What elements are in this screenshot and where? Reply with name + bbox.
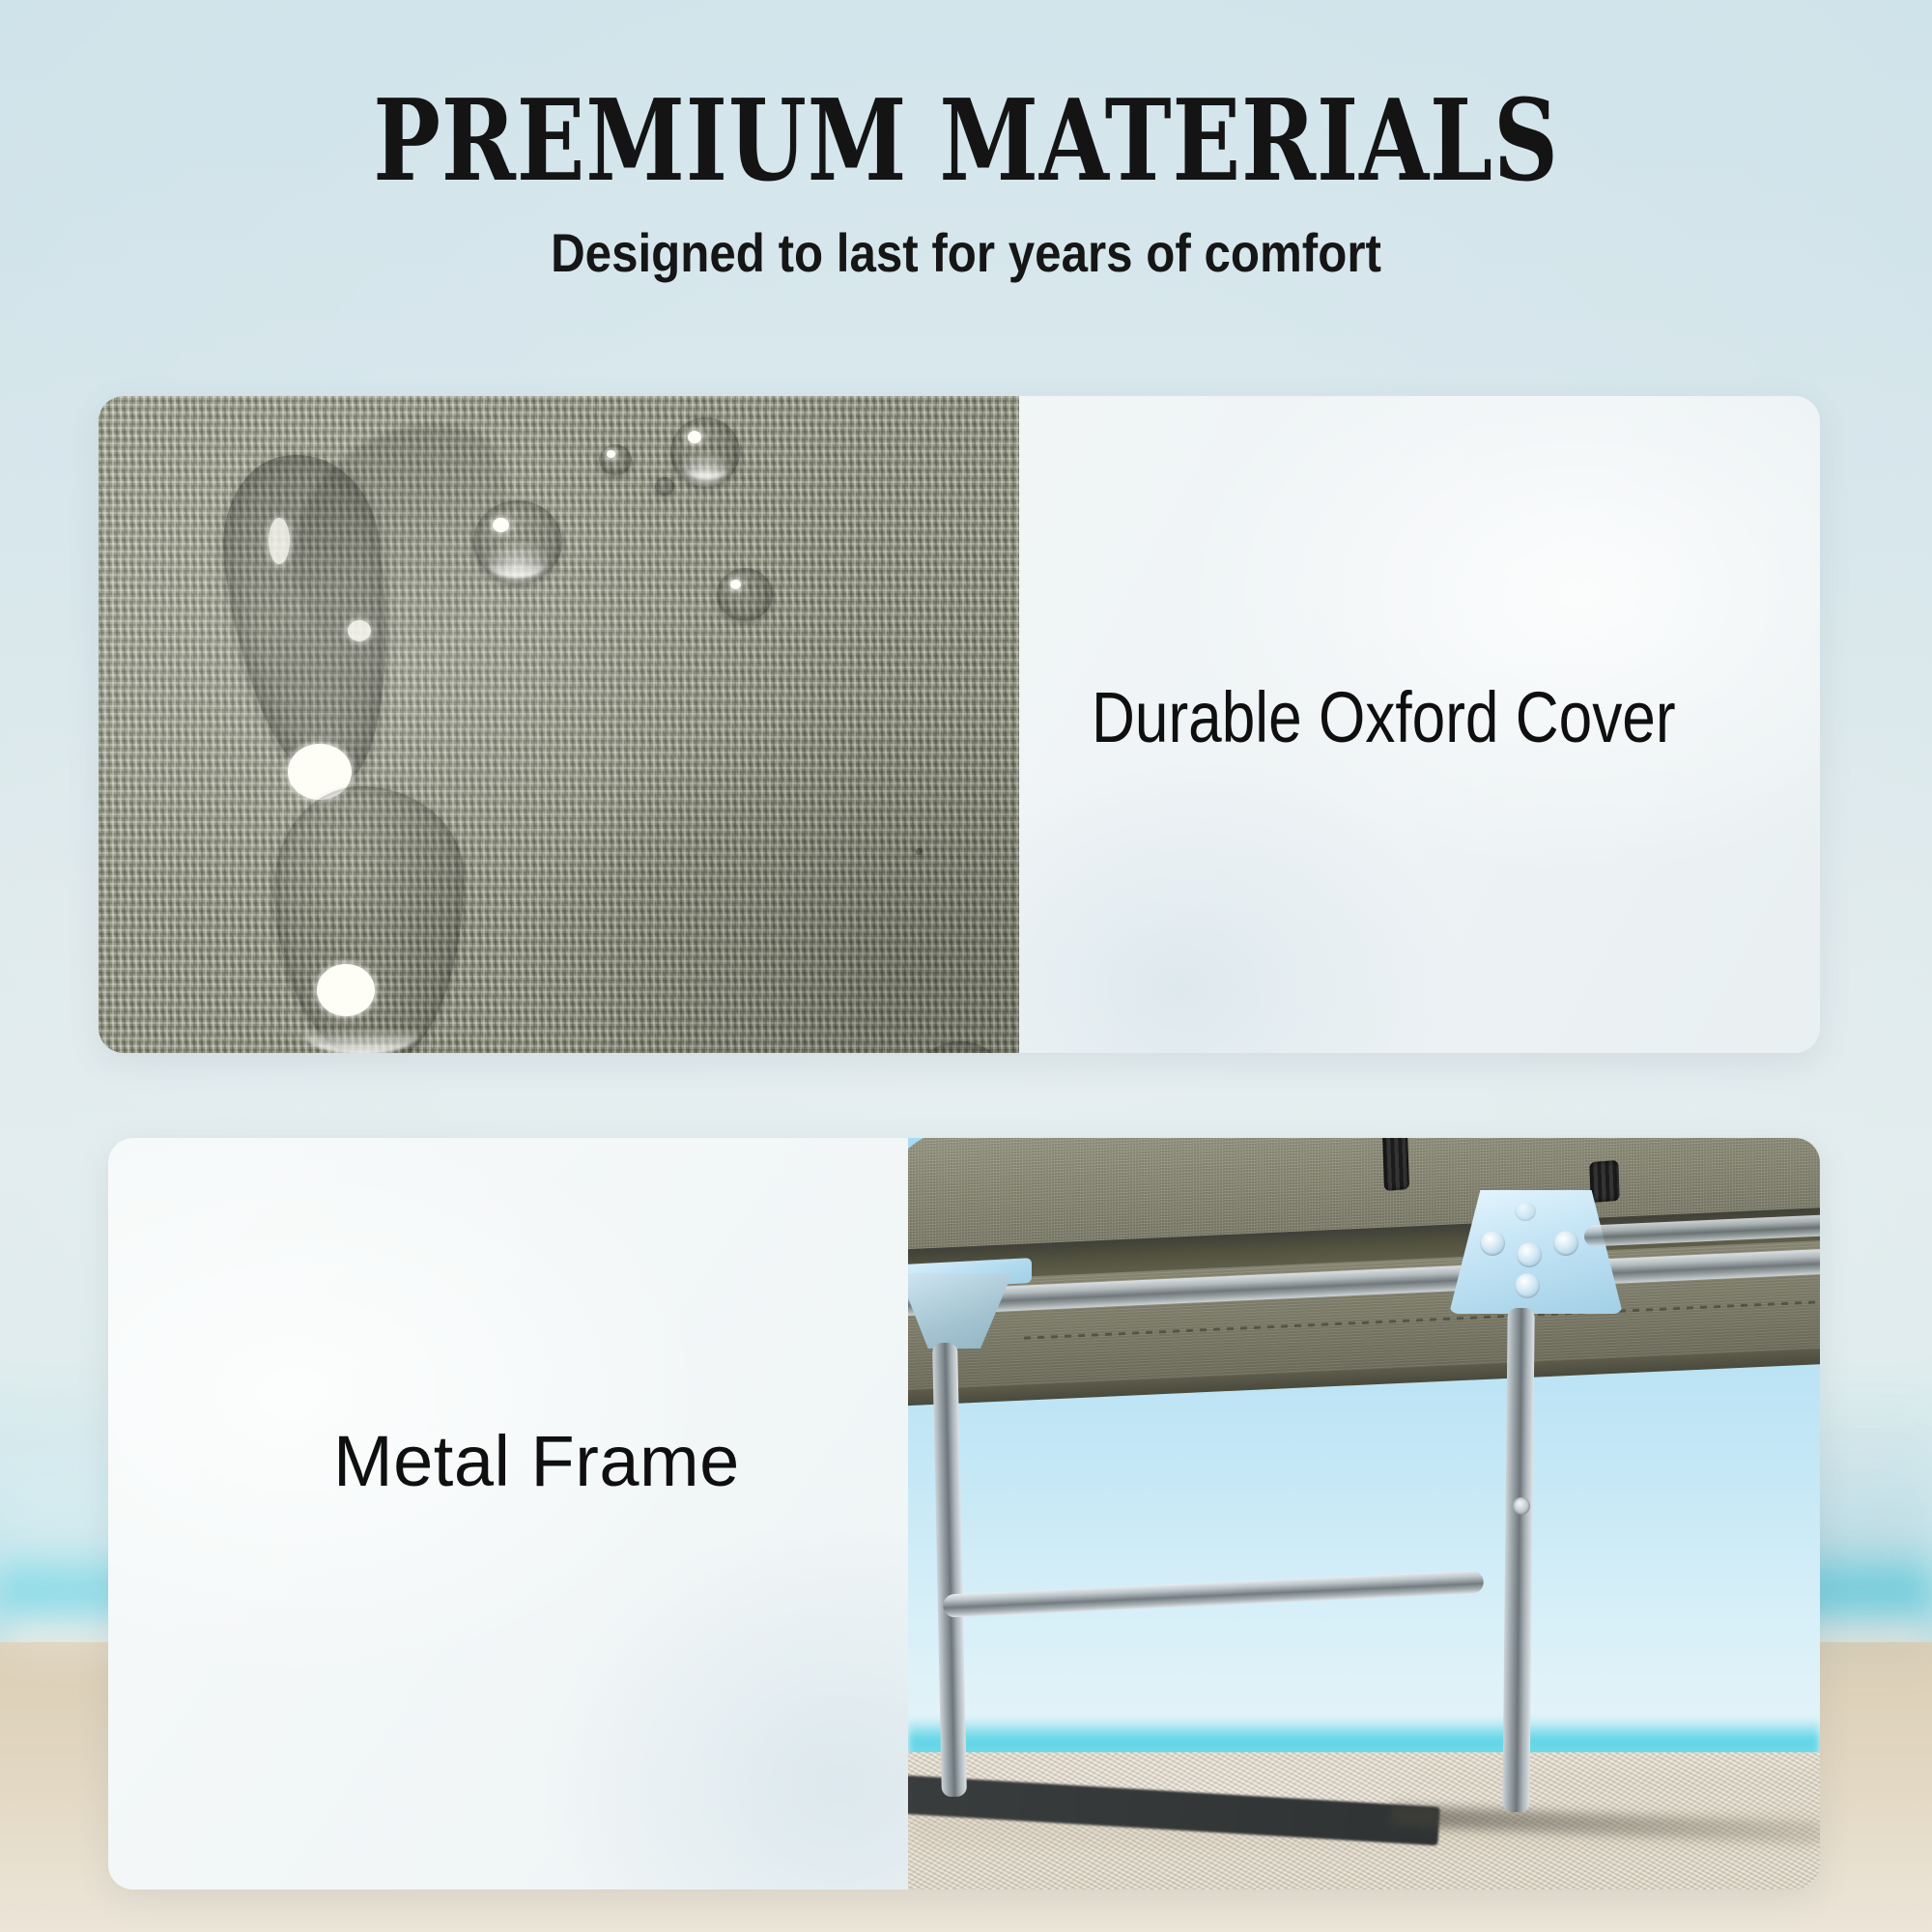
page-title: PREMIUM MATERIALS bbox=[193, 85, 1739, 197]
water-droplet bbox=[916, 848, 923, 855]
droplet-highlight bbox=[493, 518, 509, 532]
bracket-rivet bbox=[1515, 1202, 1536, 1221]
bracket-rivet bbox=[1480, 1231, 1505, 1256]
water-droplet bbox=[717, 568, 773, 621]
bracket-rivet bbox=[1515, 1273, 1540, 1298]
rail-rubber-sleeve bbox=[1589, 1160, 1619, 1203]
cot-leg-right bbox=[1502, 1308, 1534, 1812]
droplet-crescent bbox=[303, 1010, 419, 1053]
droplet-crescent bbox=[686, 460, 728, 479]
card-sheen bbox=[108, 1138, 958, 1889]
metal-frame-photo bbox=[908, 1138, 1820, 1889]
droplet-highlight bbox=[269, 518, 290, 564]
water-droplet bbox=[599, 444, 632, 475]
page-subtitle: Designed to last for years of comfort bbox=[116, 226, 1816, 280]
metal-frame-label: Metal Frame bbox=[333, 1420, 740, 1502]
bracket-rivet bbox=[1517, 1242, 1542, 1267]
bracket-rivet bbox=[1553, 1231, 1578, 1256]
droplet-highlight bbox=[317, 964, 375, 1016]
droplet-highlight bbox=[348, 620, 371, 641]
oxford-cover-label: Durable Oxford Cover bbox=[1092, 676, 1676, 758]
droplet-highlight bbox=[688, 431, 701, 443]
promo-banner: PREMIUM MATERIALS Designed to last for y… bbox=[0, 0, 1932, 1932]
header: PREMIUM MATERIALS Designed to last for y… bbox=[0, 0, 1932, 280]
oxford-fabric-photo bbox=[99, 396, 1019, 1053]
leg-screw bbox=[1513, 1497, 1530, 1515]
water-droplet bbox=[655, 477, 674, 496]
droplet-highlight bbox=[730, 580, 741, 589]
droplet-highlight bbox=[607, 450, 615, 458]
rail-rubber-sleeve bbox=[1382, 1138, 1409, 1191]
droplet-crescent bbox=[489, 553, 545, 578]
